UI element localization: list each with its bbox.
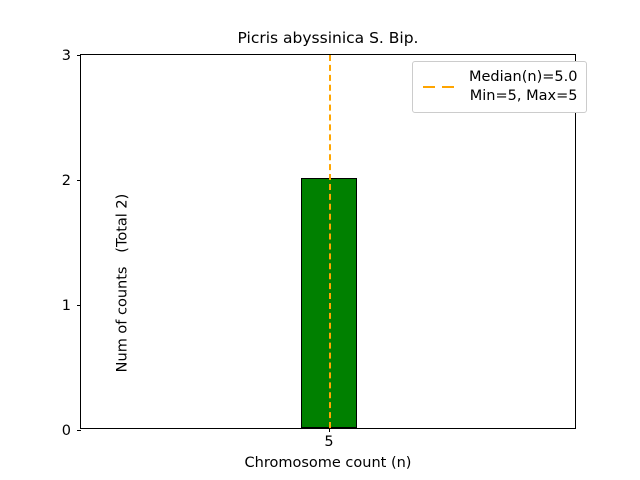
ytick-label-0: 0	[62, 424, 71, 439]
xtick-mark-5	[329, 428, 330, 432]
plot-area: 0 1 2 3 5 Num of counts (Total 2) Median…	[80, 54, 576, 429]
ytick-label-3: 3	[62, 49, 71, 64]
y-axis-label: Num of counts (Total 2)	[115, 96, 131, 471]
figure-canvas: Picris abyssinica S. Bip. 0 1 2 3 5 Num …	[0, 0, 640, 480]
xtick-label-5: 5	[324, 434, 333, 450]
ytick-mark-3: 3	[77, 55, 81, 56]
median-line	[329, 55, 331, 428]
x-axis-label: Chromosome count (n)	[80, 455, 576, 471]
ytick-mark-1: 1	[77, 305, 81, 306]
chart-title: Picris abyssinica S. Bip.	[80, 29, 576, 47]
legend-text-group: Median(n)=5.0 Min=5, Max=5	[469, 68, 577, 106]
ytick-mark-0: 0	[77, 430, 81, 431]
legend-label-minmax: Min=5, Max=5	[470, 87, 578, 106]
ytick-label-1: 1	[62, 299, 71, 314]
legend-dashed-line-icon	[422, 80, 460, 94]
ytick-mark-2: 2	[77, 180, 81, 181]
legend-box: Median(n)=5.0 Min=5, Max=5	[412, 61, 587, 113]
legend-label-median: Median(n)=5.0	[469, 68, 577, 87]
ytick-label-2: 2	[62, 174, 71, 189]
